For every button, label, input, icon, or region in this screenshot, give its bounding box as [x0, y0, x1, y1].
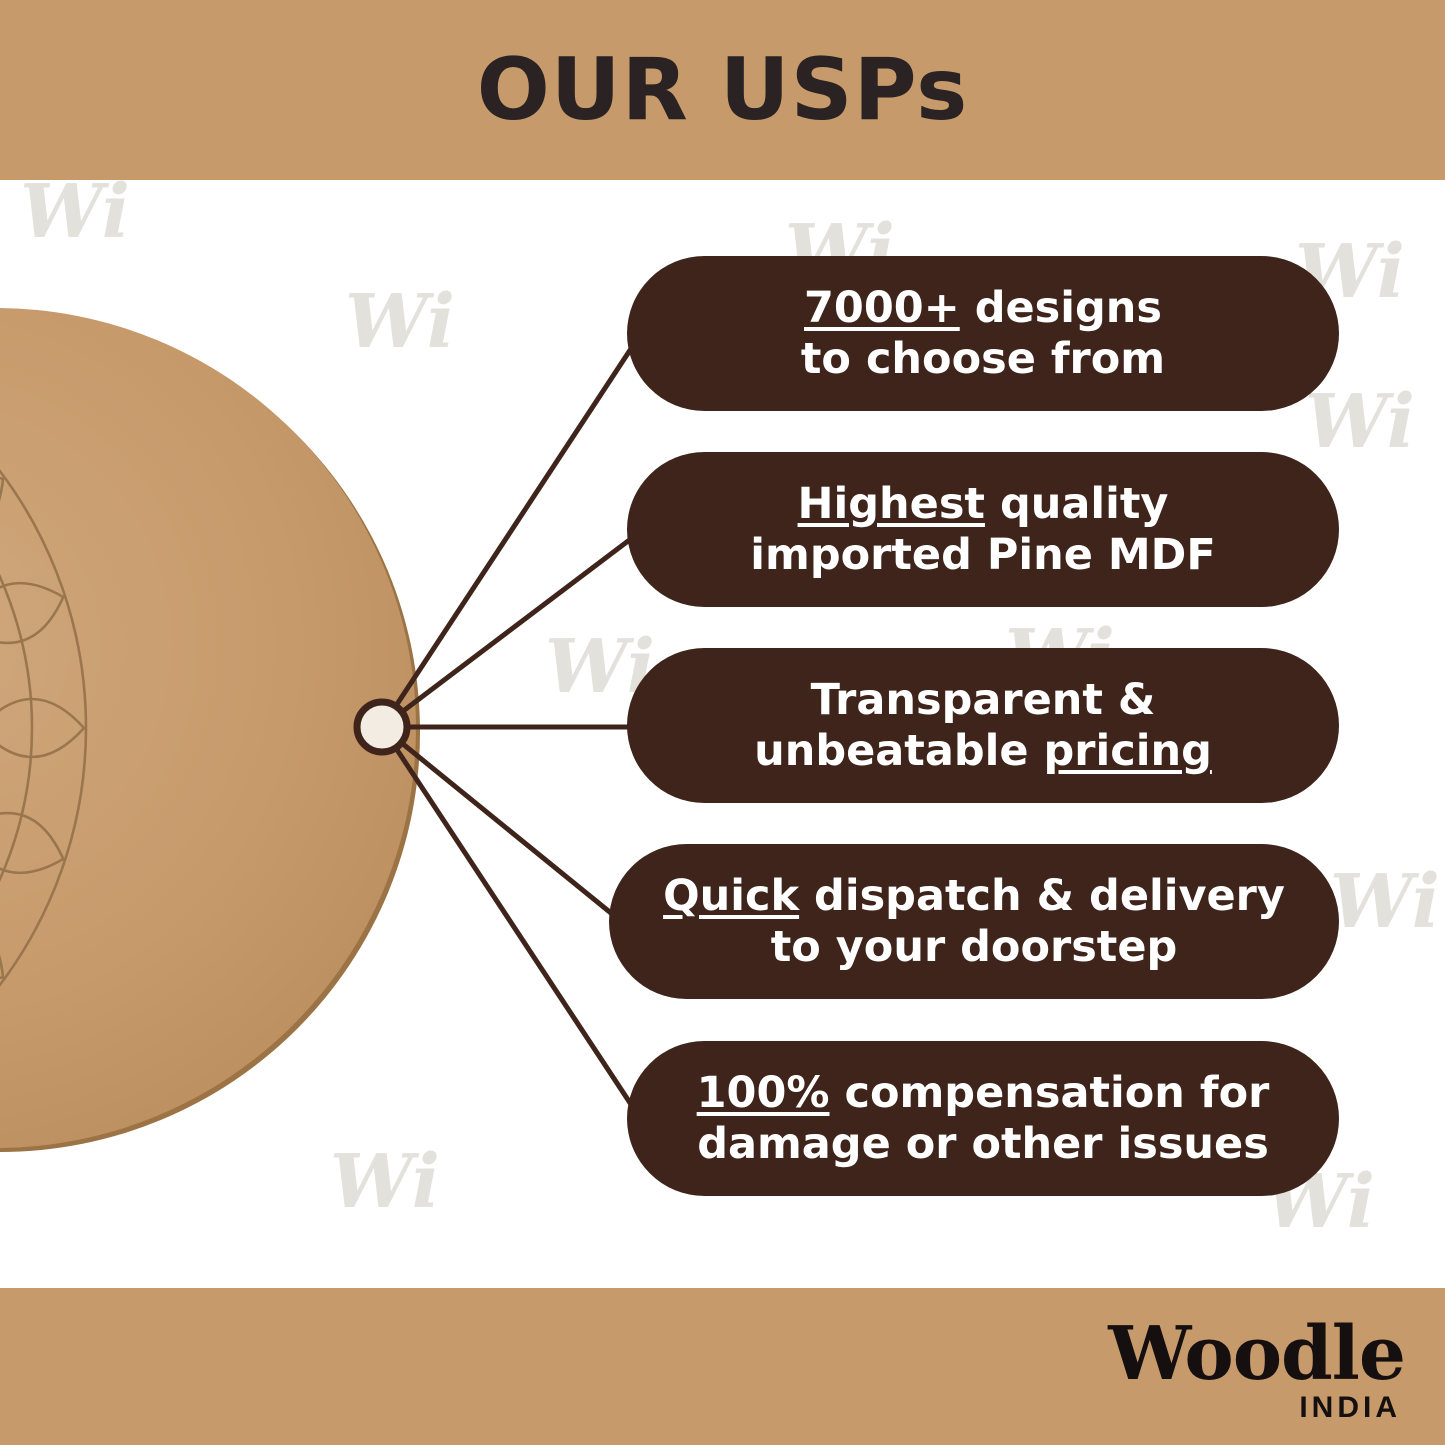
- usp-pill-5-line2: damage or other issues: [697, 1119, 1269, 1170]
- page-title: OUR USPs: [0, 0, 1445, 180]
- usp-pill-4-line2: to your doorstep: [771, 922, 1178, 973]
- usp-pill-5-highlight: 100%: [697, 1068, 830, 1118]
- usp-pill-4[interactable]: Quick dispatch & delivery to your doorst…: [609, 844, 1339, 999]
- usp-pill-3-highlight: pricing: [1044, 726, 1212, 776]
- usp-pill-1[interactable]: 7000+ designs to choose from: [627, 256, 1339, 411]
- poster-root: OUR USPs Wi Wi Wi Wi Wi Wi Wi Wi Wi Wi: [0, 0, 1445, 1445]
- usp-pill-2-highlight: Highest: [798, 479, 985, 529]
- usp-pill-2-line2: imported Pine MDF: [750, 530, 1215, 581]
- brand-logo: Woodle INDIA: [1108, 1319, 1405, 1425]
- hub-node: [357, 702, 407, 752]
- usp-pill-5[interactable]: 100% compensation for damage or other is…: [627, 1041, 1339, 1196]
- brand-name: Woodle: [1108, 1319, 1405, 1389]
- usp-pill-2-line1-rest: quality: [985, 479, 1168, 529]
- usp-pill-1-line2: to choose from: [801, 334, 1165, 385]
- usp-pill-3-line1: Transparent &: [811, 675, 1156, 726]
- usp-pill-3[interactable]: Transparent & unbeatable pricing: [627, 648, 1339, 803]
- usp-pill-5-line1-rest: compensation for: [829, 1068, 1269, 1118]
- usp-pill-1-line1-rest: designs: [960, 283, 1162, 333]
- usp-pill-1-highlight: 7000+: [804, 283, 960, 333]
- usp-pill-4-highlight: Quick: [663, 871, 799, 921]
- diagram-canvas: Wi Wi Wi Wi Wi Wi Wi Wi Wi Wi: [0, 180, 1445, 1288]
- usp-pill-4-line1: Quick dispatch & delivery: [663, 871, 1285, 922]
- usp-pill-2[interactable]: Highest quality imported Pine MDF: [627, 452, 1339, 607]
- usp-pill-1-line1: 7000+ designs: [804, 283, 1162, 334]
- usp-pill-5-line1: 100% compensation for: [697, 1068, 1270, 1119]
- usp-pill-3-line2: unbeatable pricing: [754, 726, 1212, 777]
- usp-pill-2-line1: Highest quality: [798, 479, 1169, 530]
- usp-pill-3-line2-pre: unbeatable: [754, 726, 1043, 776]
- usp-pill-4-line1-rest: dispatch & delivery: [799, 871, 1285, 921]
